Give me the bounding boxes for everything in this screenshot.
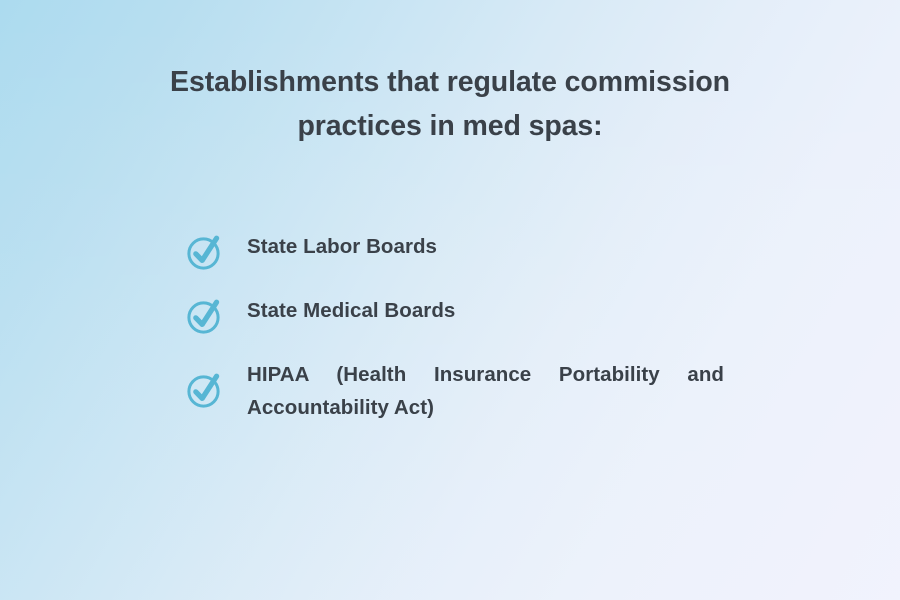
list-item: HIPAA (Health Insurance Portability and … xyxy=(186,358,726,424)
check-circle-icon xyxy=(186,233,226,273)
check-circle-icon xyxy=(186,297,226,337)
check-circle-icon xyxy=(186,371,226,411)
list-item: State Labor Boards xyxy=(186,230,726,266)
list-item: State Medical Boards xyxy=(186,294,726,330)
slide-canvas: Establishments that regulate commission … xyxy=(0,0,900,600)
checklist: State Labor Boards State Medical Boards xyxy=(186,230,726,424)
slide-content: Establishments that regulate commission … xyxy=(0,0,900,600)
page-title: Establishments that regulate commission … xyxy=(130,60,770,148)
list-item-label: HIPAA (Health Insurance Portability and … xyxy=(247,358,724,424)
list-item-label: State Labor Boards xyxy=(247,230,724,263)
list-item-label: State Medical Boards xyxy=(247,294,724,327)
